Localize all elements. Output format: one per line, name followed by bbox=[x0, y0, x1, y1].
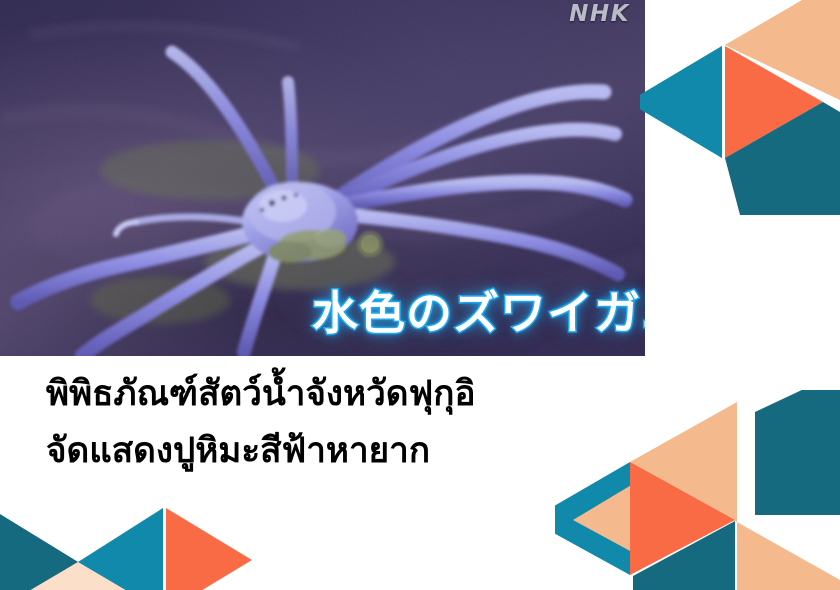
japanese-caption: 水色のズワイガニ bbox=[312, 290, 645, 336]
nhk-logo-icon: NHK bbox=[569, 3, 630, 26]
news-card: NHK 水色のズワイガニ พิพิธภัณฑ์สัตว์น้ำจังหวัดฟุ… bbox=[0, 0, 840, 590]
headline-line-1: พิพิธภัณฑ์สัตว์น้ำจังหวัดฟุกุอิ bbox=[46, 366, 666, 423]
bottom-left-triangles bbox=[0, 490, 290, 590]
headline-line-2: จัดแสดงปูหิมะสีฟ้าหายาก bbox=[46, 423, 666, 480]
video-still: NHK 水色のズワイガニ bbox=[0, 0, 645, 356]
top-right-triangles bbox=[640, 0, 840, 215]
headline: พิพิธภัณฑ์สัตว์น้ำจังหวัดฟุกุอิ จัดแสดงป… bbox=[46, 366, 666, 479]
